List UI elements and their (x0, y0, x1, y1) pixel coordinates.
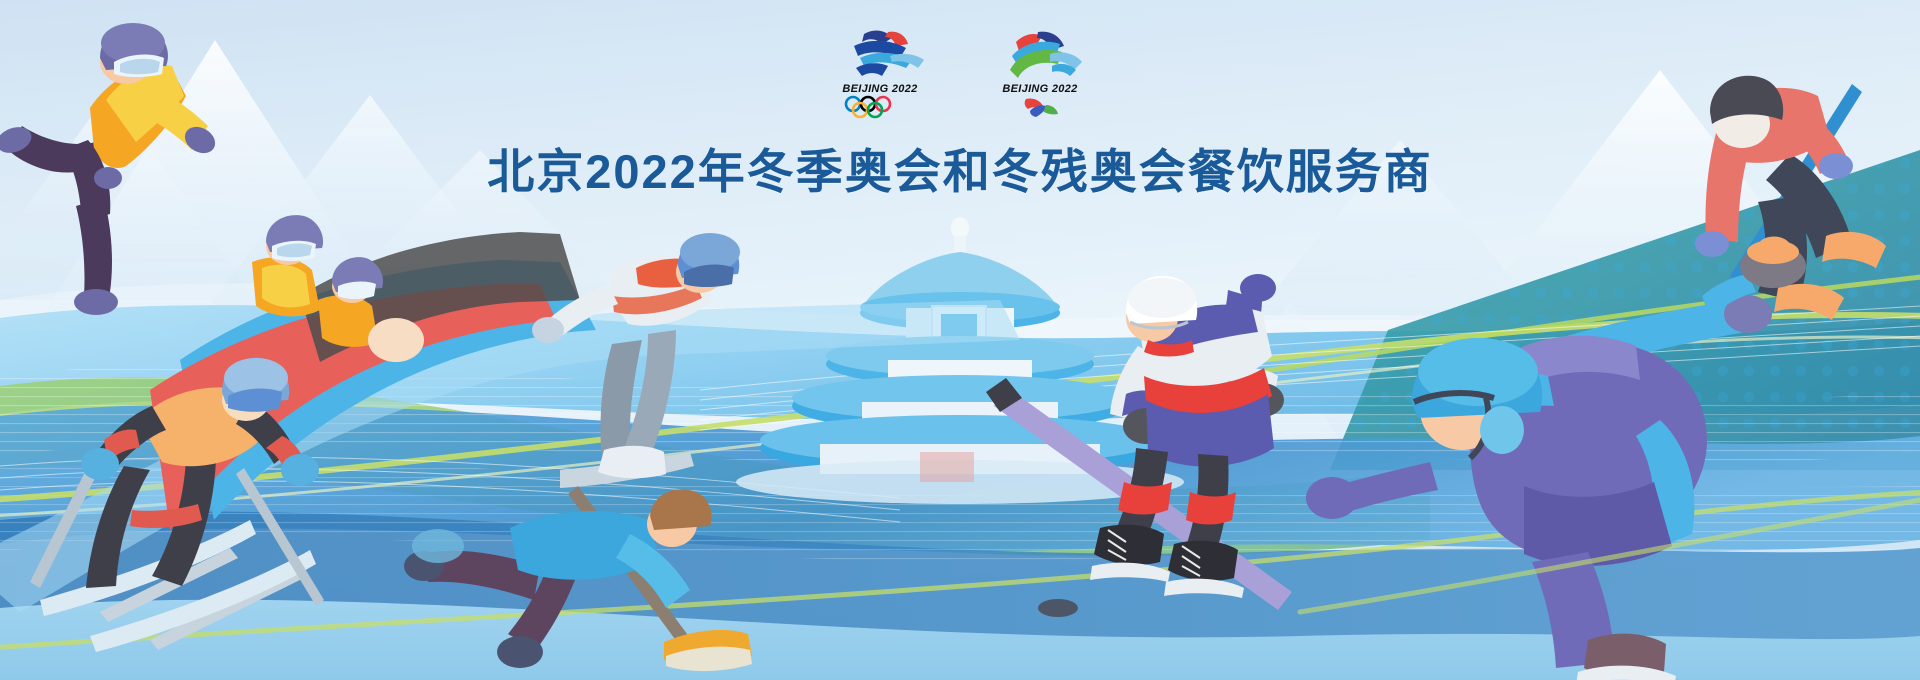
beijing-2022-paralympic-emblem[interactable]: BEIJING 2022 (990, 26, 1090, 121)
olympics-banner: BEIJING 2022 (0, 0, 1920, 680)
paralympic-emblem-icon (990, 26, 1090, 82)
emblem-row: BEIJING 2022 (0, 0, 1920, 121)
page-title: 北京2022年冬季奥会和冬残奥会餐饮服务商 (0, 133, 1920, 202)
pavilion-accent (920, 452, 974, 482)
olympic-wordmark: BEIJING 2022 (830, 83, 930, 95)
beijing-2022-olympic-emblem[interactable]: BEIJING 2022 (830, 26, 930, 121)
banner-header: BEIJING 2022 (0, 0, 1920, 202)
olympic-rings-icon (830, 95, 930, 121)
paralympic-agitos-icon (990, 95, 1090, 121)
paralympic-wordmark: BEIJING 2022 (990, 83, 1090, 95)
olympic-emblem-icon (830, 26, 930, 82)
